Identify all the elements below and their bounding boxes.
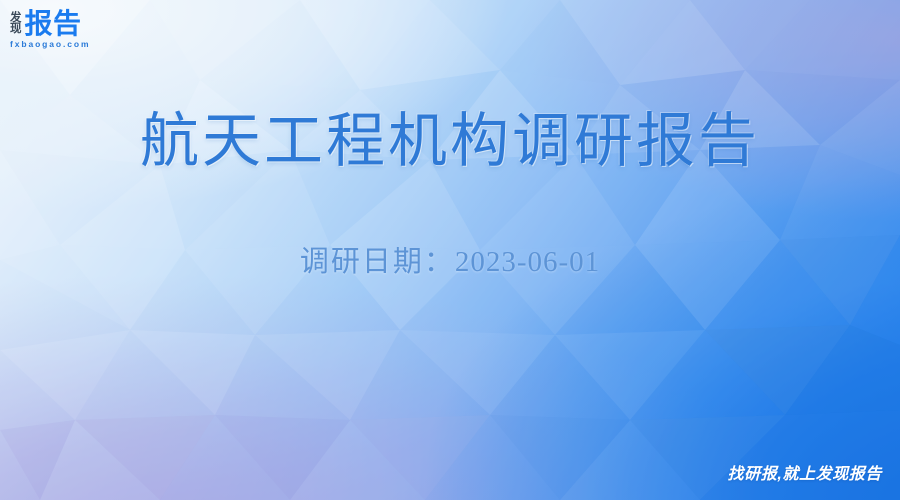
brand-mark-char-2: 现: [10, 24, 22, 36]
brand-wordmark: 报告: [25, 11, 82, 37]
report-cover-slide: 发 现 报告 fxbaogao.com 航天工程机构调研报告 调研日期：2023…: [0, 0, 900, 500]
brand-url: fxbaogao.com: [10, 39, 130, 49]
brand-mark-discover: 发 现: [10, 13, 22, 37]
survey-date-line: 调研日期：2023-06-01: [0, 238, 900, 280]
survey-date-value: 2023-06-01: [455, 246, 600, 278]
brand-logo-row: 发 现 报告: [10, 7, 130, 37]
survey-date-label: 调研日期：: [300, 246, 455, 278]
page-title: 航天工程机构调研报告: [0, 93, 900, 178]
footer-tagline: 找研报,就上发现报告: [728, 460, 882, 484]
brand-logo[interactable]: 发 现 报告 fxbaogao.com: [10, 7, 130, 53]
